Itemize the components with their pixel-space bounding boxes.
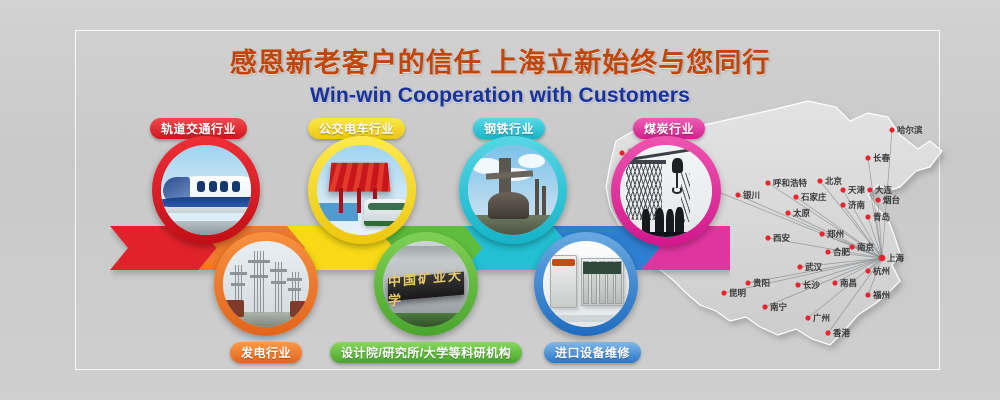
city-label: 贵阳 [753,278,770,288]
city-dot[interactable] [805,315,810,320]
city-dot[interactable] [889,127,894,132]
city-label: 太原 [792,208,811,218]
city-label: 福州 [872,290,890,300]
city-dot[interactable] [765,180,770,185]
city-dot[interactable] [867,187,872,192]
city-dot[interactable] [825,330,830,335]
city-label: 北京 [825,176,843,186]
city-label: 郑州 [827,229,844,239]
city-label: 青岛 [873,212,890,222]
industry-bubble-maintenance[interactable] [534,232,638,336]
city-dot[interactable] [865,292,870,297]
city-label: 上海 [887,253,905,263]
city-label: 银川 [742,190,760,200]
city-dot[interactable] [795,282,800,287]
industry-photo-research: 中国矿业大学 [383,241,469,327]
city-dot[interactable] [832,280,837,285]
city-dot[interactable] [735,192,740,197]
industry-bubble-research[interactable]: 中国矿业大学 [374,232,478,336]
city-dot[interactable] [865,155,870,160]
city-label: 烟台 [883,195,901,205]
headline-english: Win-win Cooperation with Customers [0,82,1000,110]
city-label: 香港 [832,328,851,338]
city-label: 石家庄 [800,192,827,202]
city-dot[interactable] [721,290,726,295]
city-dot[interactable] [840,202,845,207]
city-label: 南京 [857,242,875,252]
city-label: 长沙 [803,280,821,290]
industry-photo-coal [620,145,712,237]
city-dot[interactable] [865,214,870,219]
city-dot[interactable] [797,264,802,269]
industry-pill-research[interactable]: 设计院/研究所/大学等科研机构 [330,342,522,363]
city-dot[interactable] [765,235,770,240]
city-label: 杭州 [873,266,890,276]
industry-photo-rail [161,145,251,235]
city-label: 长春 [873,153,891,163]
city-dot[interactable] [849,244,854,249]
city-dot[interactable] [745,280,750,285]
promo-banner: 哈尔滨长春乌鲁木齐呼和浩特北京天津大连银川石家庄烟台济南太原青岛郑州西安南京合肥… [0,0,1000,400]
city-label: 南宁 [770,302,788,312]
industry-bubble-rail[interactable] [152,136,260,244]
city-dot[interactable] [762,304,767,309]
city-dot[interactable] [840,187,845,192]
city-dot[interactable] [817,178,822,183]
city-dot[interactable] [879,255,886,262]
city-label: 济南 [848,200,866,210]
city-label: 呼和浩特 [773,178,808,188]
university-sign-text: 中国矿业大学 [388,265,464,310]
industry-bubble-coal[interactable] [611,136,721,246]
industry-bubble-bus[interactable] [308,136,416,244]
city-dot[interactable] [825,249,830,254]
city-dot[interactable] [875,197,880,202]
city-label: 大连 [875,185,893,195]
city-label: 武汉 [805,262,823,272]
city-label: 西安 [773,233,791,243]
industry-photo-steel [468,145,558,235]
industry-photo-bus [317,145,407,235]
city-dot[interactable] [793,194,798,199]
city-dot[interactable] [785,210,790,215]
industry-photo-power [223,241,309,327]
city-label: 广州 [813,313,830,323]
city-label: 昆明 [729,288,747,298]
city-label: 哈尔滨 [897,125,923,135]
headline-block: 感恩新老客户的信任 上海立新始终与您同行 Win-win Cooperation… [0,46,1000,110]
headline-chinese: 感恩新老客户的信任 上海立新始终与您同行 [0,46,1000,80]
industry-pill-maintenance[interactable]: 进口设备维修 [544,342,641,363]
city-label: 合肥 [832,247,851,257]
industry-photo-maintenance [543,241,629,327]
industry-bubble-steel[interactable] [459,136,567,244]
city-dot[interactable] [819,231,824,236]
city-label: 天津 [848,185,866,195]
industry-pill-power[interactable]: 发电行业 [230,342,302,363]
city-label: 南昌 [840,278,857,288]
city-dot[interactable] [865,268,870,273]
industry-bubble-power[interactable] [214,232,318,336]
